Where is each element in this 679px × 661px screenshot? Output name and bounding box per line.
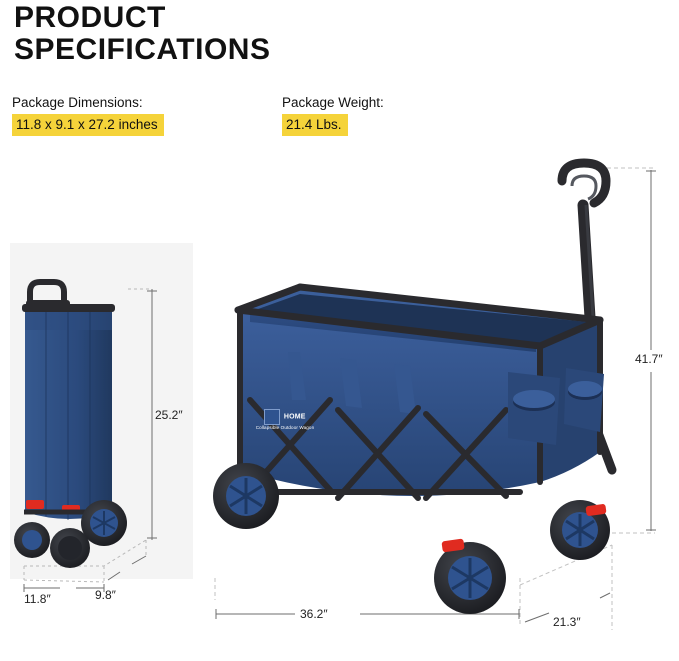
package-weight-label: Package Weight: xyxy=(282,95,384,110)
open-wagon-illustration xyxy=(213,163,656,630)
open-height-label: 41.7″ xyxy=(635,352,663,366)
package-dimensions-block: Package Dimensions: 11.8 x 9.1 x 27.2 in… xyxy=(12,95,164,136)
package-dimensions-value: 11.8 x 9.1 x 27.2 inches xyxy=(12,114,164,136)
package-weight-value: 21.4 Lbs. xyxy=(282,114,348,136)
logo-mark xyxy=(264,409,280,425)
cup-holders xyxy=(508,368,604,445)
page-title-line-2: SPECIFICATIONS xyxy=(14,34,434,66)
brand-logo: HOME Collapsible Outdoor Wagon xyxy=(252,409,318,435)
open-length-label: 36.2″ xyxy=(300,607,328,621)
page-title-line-1: PRODUCT xyxy=(14,2,434,34)
package-weight-block: Package Weight: 21.4 Lbs. xyxy=(282,95,384,136)
page-title: PRODUCT SPECIFICATIONS xyxy=(14,2,434,66)
folded-depth-label: 9.8″ xyxy=(95,588,116,602)
package-dimensions-label: Package Dimensions: xyxy=(12,95,164,110)
product-specifications-page: PRODUCT SPECIFICATIONS Package Dimension… xyxy=(0,0,679,661)
folded-height-label: 25.2″ xyxy=(155,408,183,422)
open-handle xyxy=(562,163,612,470)
folded-width-label: 11.8″ xyxy=(24,592,51,606)
open-wheels xyxy=(213,463,610,614)
logo-brand-text: HOME xyxy=(284,413,306,420)
open-width-label: 21.3″ xyxy=(553,615,581,629)
logo-subtitle: Collapsible Outdoor Wagon xyxy=(252,425,318,431)
